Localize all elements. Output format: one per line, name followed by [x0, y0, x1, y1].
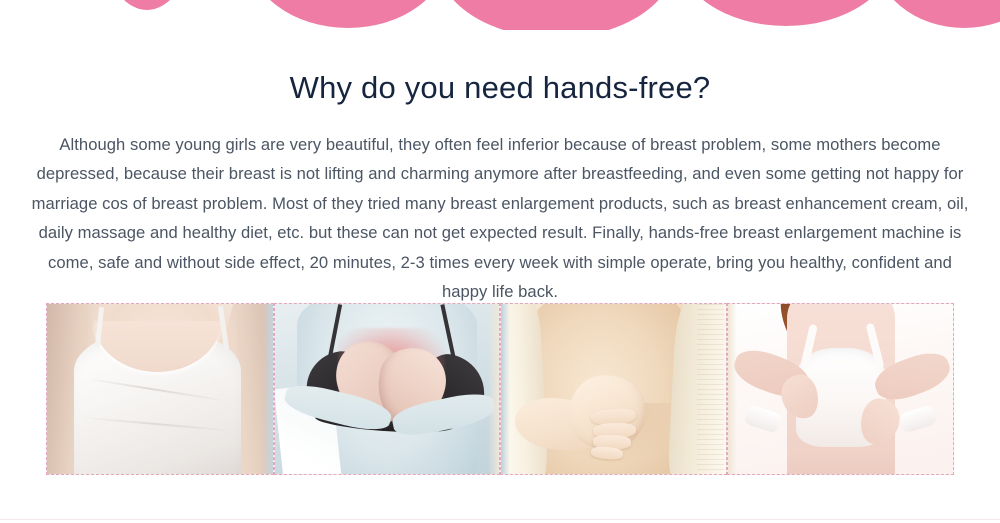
scallop-blob-1	[104, 0, 190, 10]
scallop-blob-3	[436, 0, 676, 30]
photo4-left-edge	[728, 304, 737, 474]
page-title: Why do you need hands-free?	[0, 69, 1000, 108]
image-gallery	[46, 303, 954, 475]
photo-baby-hand-breast	[501, 304, 726, 474]
bottom-divider	[0, 519, 1000, 520]
scallop-blob-5	[874, 0, 1000, 28]
photo1-right-edge	[262, 304, 273, 474]
photo-woman-chest-pain	[275, 304, 499, 474]
photo3-knit-texture	[697, 304, 724, 474]
pink-scallop-band	[0, 0, 1000, 30]
scallop-blob-2	[248, 0, 448, 28]
photo2-right-edge	[488, 304, 499, 474]
gallery-cell-2	[274, 303, 500, 475]
scallop-blob-4	[676, 0, 896, 26]
photo-woman-sports-bra	[728, 304, 953, 474]
product-description-page: Why do you need hands-free? Although som…	[0, 0, 1000, 523]
photo-woman-white-camisole	[47, 304, 273, 474]
gallery-cell-4	[727, 303, 954, 475]
gallery-cell-3	[500, 303, 727, 475]
body-paragraph: Although some young girls are very beaut…	[30, 130, 970, 307]
gallery-cell-1	[46, 303, 274, 475]
photo3-left-edge	[501, 304, 510, 474]
